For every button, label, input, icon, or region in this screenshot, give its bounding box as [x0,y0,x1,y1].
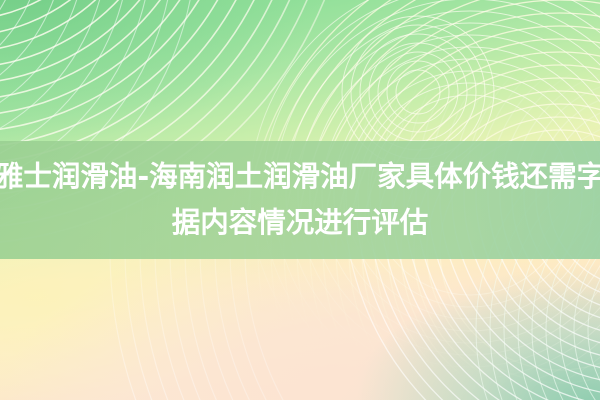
banner-image: 雅士润滑油-海南润土润滑油厂家具体价钱还需字 据内容情况进行评估 [0,0,600,400]
headline-block: 雅士润滑油-海南润土润滑油厂家具体价钱还需字 据内容情况进行评估 [0,141,600,259]
headline-band: 雅士润滑油-海南润土润滑油厂家具体价钱还需字 据内容情况进行评估 [0,141,600,259]
headline-line-1: 雅士润滑油-海南润土润滑油厂家具体价钱还需字 [0,154,600,200]
headline-line-2: 据内容情况进行评估 [172,200,429,246]
